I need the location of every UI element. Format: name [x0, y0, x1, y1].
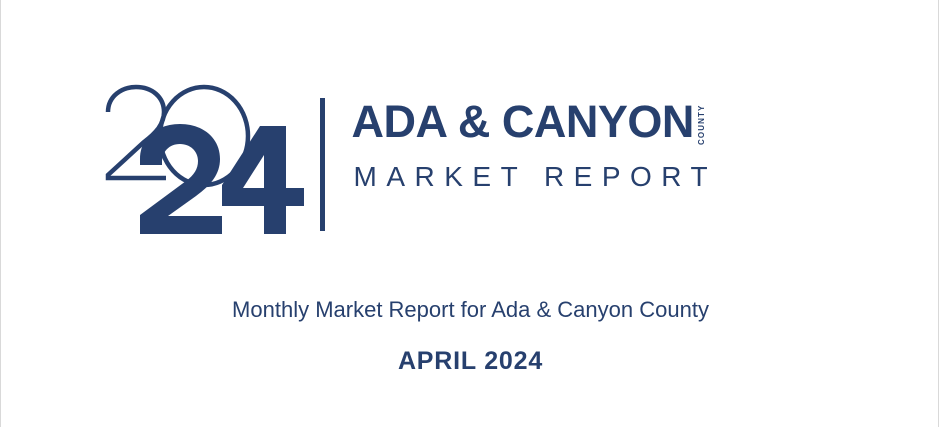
caption-month-year: APRIL 2024: [1, 346, 939, 376]
report-cover-page: ADA & CANYON COUNTY MARKET REPORT Monthl…: [0, 0, 939, 427]
cover-caption: Monthly Market Report for Ada & Canyon C…: [1, 296, 939, 376]
year-2024-mark: [100, 82, 316, 237]
logo-divider-rule: [320, 98, 325, 231]
logo-wordmark: ADA & CANYON COUNTY MARKET REPORT: [352, 98, 842, 194]
logo-county-label: COUNTY: [697, 101, 706, 145]
logo-title: ADA & CANYON: [352, 98, 694, 146]
brand-logo: ADA & CANYON COUNTY MARKET REPORT: [1, 82, 939, 247]
logo-subtitle: MARKET REPORT: [354, 160, 842, 194]
caption-description: Monthly Market Report for Ada & Canyon C…: [1, 296, 939, 324]
